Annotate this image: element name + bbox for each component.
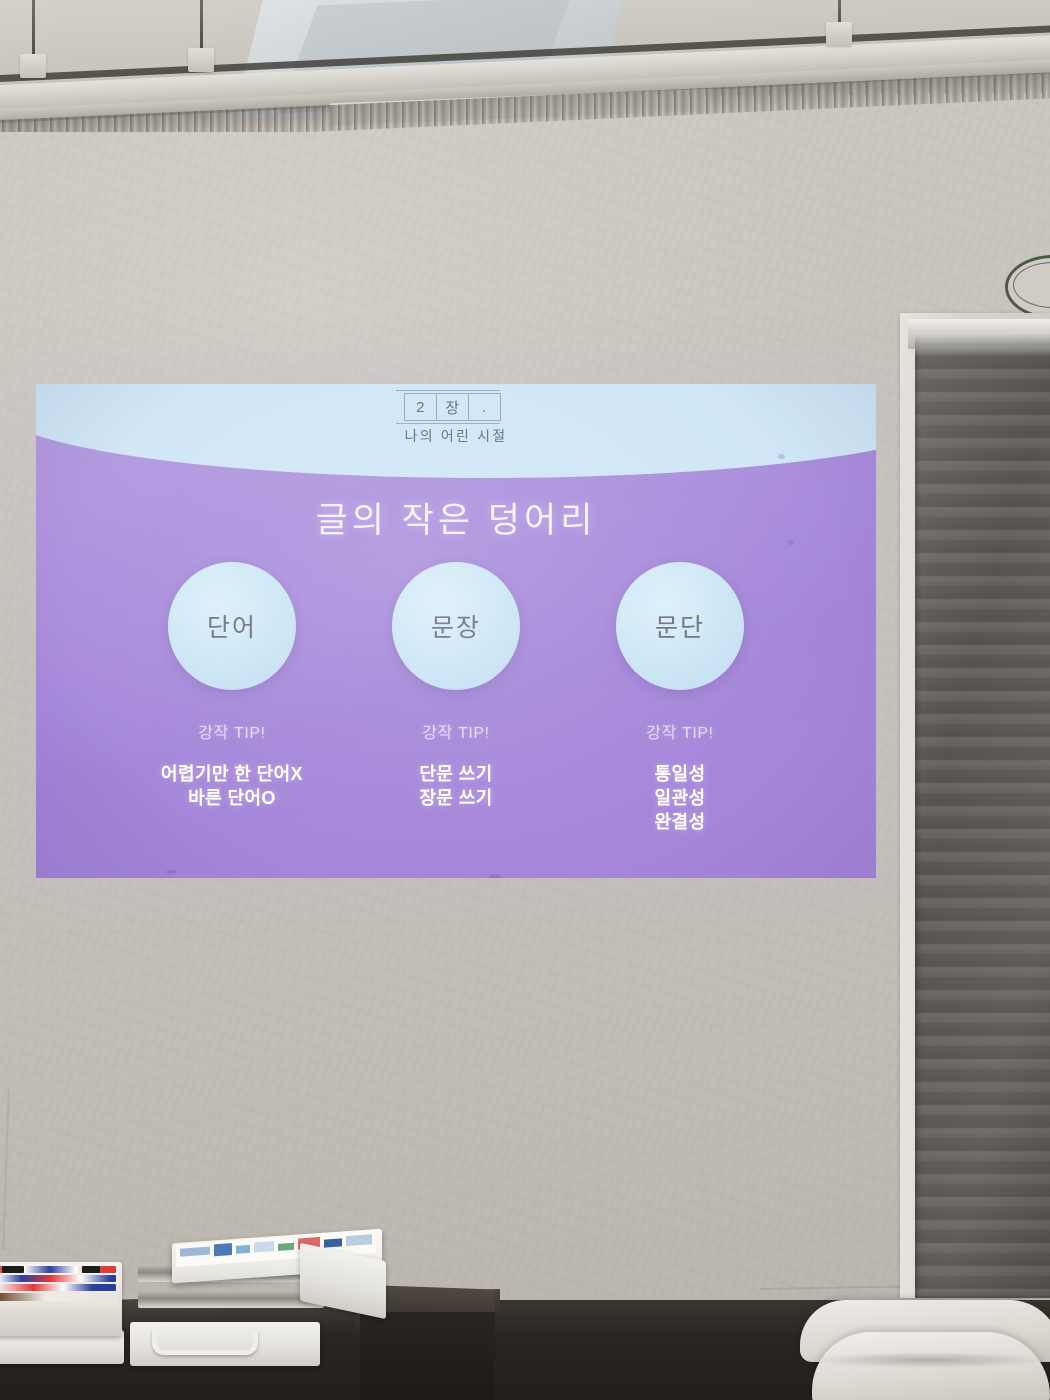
pen-item-cap: [82, 1266, 100, 1273]
slide-column-paragraph: 문단 강작 TIP! 통일성 일관성 완결성: [592, 562, 768, 834]
chapter-cell-number: 2: [405, 394, 437, 420]
bubble-paragraph: 문단: [616, 562, 744, 690]
carry-case-handle: [152, 1330, 258, 1355]
detail-line: 단문 쓰기: [419, 763, 492, 787]
pen-item: [0, 1275, 116, 1282]
pen-item: [0, 1293, 116, 1301]
room-photo-scene: 2 장 . 나의 어린 시절 글의 작은 덩어리 단어 강작 TIP! 어렵기만…: [0, 0, 1050, 1400]
bubble-sentence: 문장: [392, 562, 520, 690]
detail-line: 바른 단어O: [161, 787, 303, 811]
tip-label-word: 강작 TIP!: [198, 719, 265, 743]
blinds-sheen: [915, 333, 1050, 1298]
slide-column-sentence: 문장 강작 TIP! 단문 쓰기 장문 쓰기: [368, 562, 544, 834]
tip-label-paragraph: 강작 TIP!: [646, 719, 713, 743]
ceiling-hanger-rod: [200, 0, 203, 52]
tip-label-sentence: 강작 TIP!: [422, 719, 489, 743]
pen-item-cap: [2, 1266, 24, 1273]
slide-header: 2 장 . 나의 어린 시절: [36, 384, 876, 494]
detail-line: 완결성: [655, 811, 706, 835]
slide-speck: [788, 540, 794, 545]
chapter-subtitle: 나의 어린 시절: [36, 426, 876, 446]
window-blinds: [900, 313, 1050, 1303]
slide-speck: [489, 874, 501, 878]
chapter-rule-top: [396, 390, 500, 391]
detail-line: 장문 쓰기: [419, 787, 492, 811]
pen-box-contents: [0, 1264, 118, 1306]
detail-word: 어렵기만 한 단어X 바른 단어O: [161, 763, 303, 811]
bubble-word: 단어: [168, 562, 296, 690]
carry-case-slot: [138, 1292, 324, 1308]
chapter-cell-dot: .: [469, 394, 500, 420]
slide-title: 글의 작은 덩어리: [36, 492, 876, 543]
slide-speck: [166, 870, 176, 874]
ceiling-hanger-rod: [32, 0, 35, 58]
detail-paragraph: 통일성 일관성 완결성: [655, 763, 706, 834]
table-side-panel: [360, 1312, 495, 1400]
projected-slide: 2 장 . 나의 어린 시절 글의 작은 덩어리 단어 강작 TIP! 어렵기만…: [36, 384, 876, 878]
detail-line: 통일성: [655, 763, 706, 787]
chair-shadow: [806, 1352, 1050, 1368]
ceiling-bracket: [20, 54, 46, 78]
chapter-rule-bottom: [396, 423, 500, 424]
ceiling-bracket: [188, 48, 214, 72]
pen-item: [0, 1284, 116, 1291]
ceiling-bracket: [826, 22, 852, 46]
slide-speck: [778, 454, 785, 459]
ceiling-area: [0, 0, 1050, 132]
chapter-number-box: 2 장 .: [404, 393, 501, 421]
slide-columns: 단어 강작 TIP! 어렵기만 한 단어X 바른 단어O 문장 강작 TIP! …: [36, 562, 876, 834]
detail-line: 일관성: [655, 787, 706, 811]
detail-line: 어렵기만 한 단어X: [161, 763, 303, 787]
slide-column-word: 단어 강작 TIP! 어렵기만 한 단어X 바른 단어O: [144, 562, 320, 834]
detail-sentence: 단문 쓰기 장문 쓰기: [419, 763, 492, 811]
chapter-cell-unit: 장: [437, 394, 469, 420]
